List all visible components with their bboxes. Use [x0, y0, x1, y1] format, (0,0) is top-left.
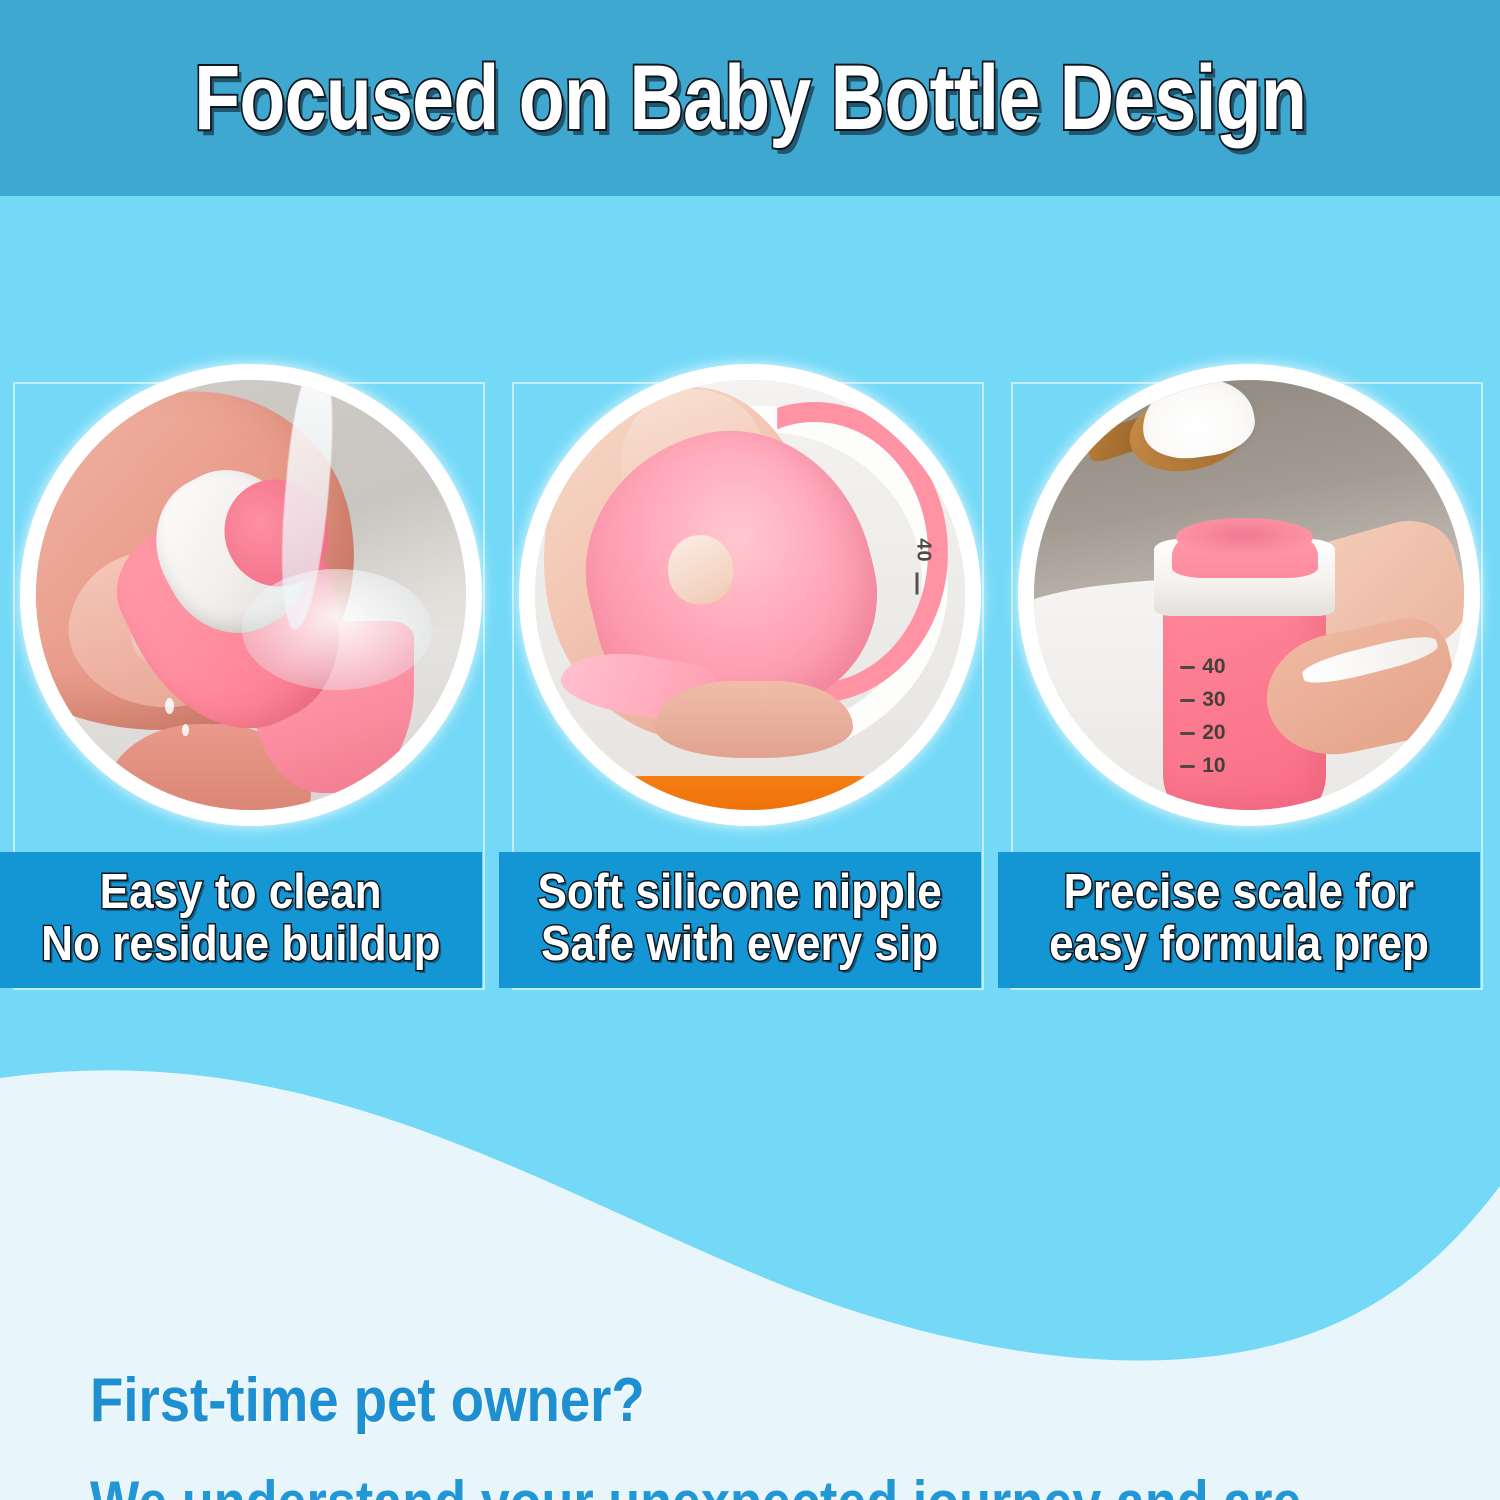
main-content-area: Easy to clean No residue buildup 40 [0, 196, 1500, 1500]
feature-caption-precise-scale: Precise scale for easy formula prep [998, 852, 1480, 988]
photo-scale-label-40: 40 [911, 538, 934, 562]
lower-heading: First-time pet owner? [90, 1368, 1260, 1433]
photo-measurement-scale: 40 30 20 10 [1180, 655, 1225, 778]
photo-clip-circle: 40 30 20 10 [1034, 380, 1464, 810]
scale-label-30: 30 [1202, 688, 1225, 712]
photo-clip-circle: 40 [535, 380, 965, 810]
scale-tick-icon [1180, 666, 1195, 669]
lower-text-block: First-time pet owner? We understand your… [90, 1368, 1420, 1500]
scale-tick-icon [1180, 765, 1195, 768]
lower-body-line-1: We understand your unexpected journey an… [90, 1469, 1247, 1500]
header-banner: Focused on Baby Bottle Design [0, 0, 1500, 196]
scale-label-40: 40 [1202, 655, 1225, 679]
scale-label-10: 10 [1202, 754, 1225, 778]
feature-card-row: Easy to clean No residue buildup 40 [0, 364, 1500, 1004]
scale-label-20: 20 [1202, 721, 1225, 745]
page-title: Focused on Baby Bottle Design [194, 52, 1306, 144]
photo-water-splash [242, 569, 431, 689]
scale-tick-icon [1180, 732, 1195, 735]
feature-card-soft-silicone-nipple: 40 Soft silicone nipple Safe with every … [510, 364, 990, 1004]
feature-photo-soft-silicone-nipple: 40 [519, 364, 981, 826]
caption-line-2: easy formula prep [1049, 919, 1429, 971]
infographic-page: Focused on Baby Bottle Design [0, 0, 1500, 1500]
feature-card-precise-scale: 40 30 20 10 [1009, 364, 1489, 1004]
photo-bottle-mouth [1176, 518, 1314, 557]
caption-line-2: Safe with every sip [541, 919, 938, 971]
feature-caption-easy-to-clean: Easy to clean No residue buildup [0, 852, 482, 988]
caption-line-1: Easy to clean [100, 867, 382, 919]
feature-photo-easy-to-clean [20, 364, 482, 826]
feature-caption-soft-silicone-nipple: Soft silicone nipple Safe with every sip [499, 852, 981, 988]
scale-row: 10 [1180, 754, 1225, 778]
scale-row: 40 [1180, 655, 1225, 679]
photo-clip-circle [36, 380, 466, 810]
feature-card-easy-to-clean: Easy to clean No residue buildup [11, 364, 491, 1004]
lower-body: We understand your unexpected journey an… [90, 1469, 1247, 1500]
caption-line-1: Soft silicone nipple [538, 867, 942, 919]
caption-line-1: Precise scale for [1064, 867, 1415, 919]
photo-water-drop [165, 698, 174, 714]
scale-row: 20 [1180, 721, 1225, 745]
photo-lower-fingers [655, 681, 853, 758]
scale-row: 30 [1180, 688, 1225, 712]
feature-photo-precise-scale: 40 30 20 10 [1018, 364, 1480, 826]
caption-line-2: No residue buildup [41, 919, 440, 971]
scale-tick-icon [1180, 699, 1195, 702]
